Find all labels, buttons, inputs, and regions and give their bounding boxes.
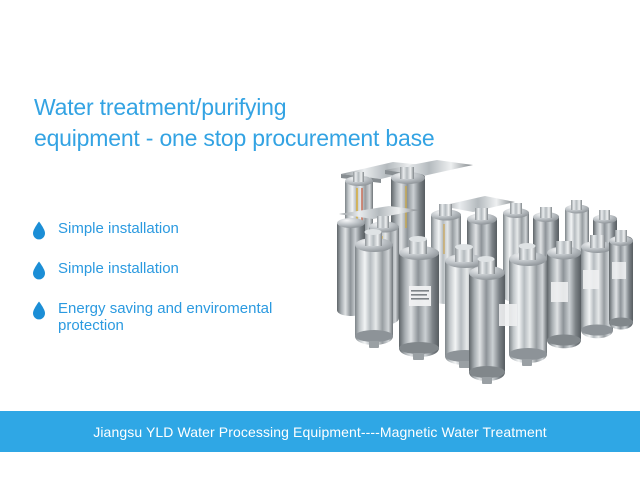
title-line-1: Water treatment/purifying <box>34 92 454 123</box>
footer-company-text: Jiangsu YLD Water Processing Equipment--… <box>93 424 546 440</box>
list-item: Simple installation <box>32 258 332 298</box>
list-item-label: Simple installation <box>58 258 332 277</box>
title-line-2: equipment - one stop procurement base <box>34 123 454 154</box>
page-title: Water treatment/purifying equipment - on… <box>34 92 454 154</box>
stainless-steel-water-filter-vessels-photo <box>333 158 636 398</box>
list-item-label: Simple installation <box>58 218 332 237</box>
list-item: Energy saving and enviromental protectio… <box>32 298 332 334</box>
list-item-label: Energy saving and enviromental protectio… <box>58 298 332 334</box>
water-drop-icon <box>32 221 46 240</box>
list-item: Simple installation <box>32 218 332 258</box>
water-drop-icon <box>32 301 46 320</box>
slide-canvas: Water treatment/purifying equipment - on… <box>0 0 640 480</box>
water-drop-icon <box>32 261 46 280</box>
feature-bullet-list: Simple installation Simple installation … <box>32 218 332 334</box>
footer-banner: Jiangsu YLD Water Processing Equipment--… <box>0 411 640 452</box>
